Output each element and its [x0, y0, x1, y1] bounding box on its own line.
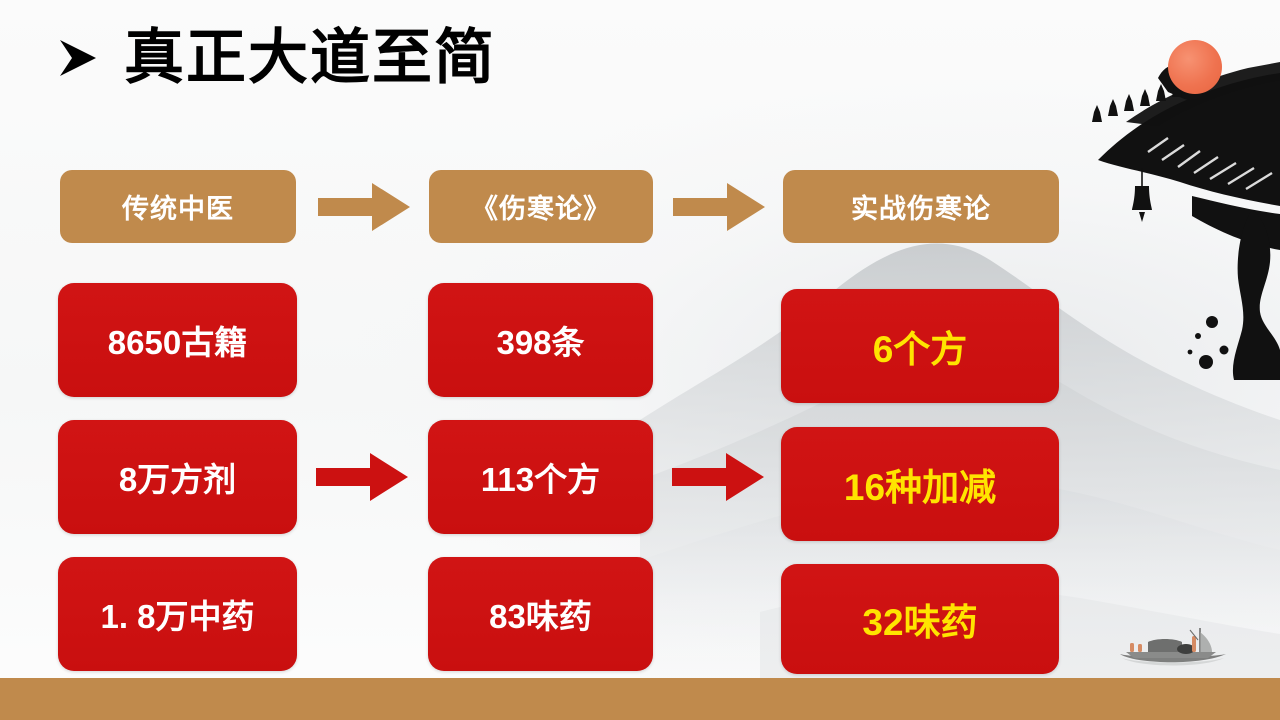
cell-col1-row3[interactable]: 1. 8万中药	[58, 557, 297, 671]
ink-splatter-graphic	[1160, 200, 1280, 380]
cell-col2-row2[interactable]: 113个方	[428, 420, 653, 534]
slide-canvas: 真正大道至简 传统中医 《伤寒论》 实战伤寒论 8650古籍 8万方剂 1. 8…	[0, 0, 1280, 720]
cell-col2-row1[interactable]: 398条	[428, 283, 653, 397]
temple-roof-graphic	[1040, 0, 1280, 300]
header-box-traditional-chinese-medicine[interactable]: 传统中医	[60, 170, 296, 243]
arrow-bullet-icon	[56, 35, 98, 81]
header-box-practical-shanghanlun[interactable]: 实战伤寒论	[783, 170, 1059, 243]
cell-col3-row1[interactable]: 6个方	[781, 289, 1059, 403]
header-box-shanghanlun[interactable]: 《伤寒论》	[429, 170, 653, 243]
cell-col1-row2[interactable]: 8万方剂	[58, 420, 297, 534]
row-arrow-1-icon	[314, 450, 410, 504]
row-arrow-2-icon	[670, 450, 766, 504]
fishing-boat-graphic	[1112, 624, 1232, 672]
header-arrow-2-icon	[671, 180, 767, 234]
cell-col3-row2[interactable]: 16种加减	[781, 427, 1059, 541]
hanging-bell-icon	[1132, 168, 1152, 222]
cell-col2-row3[interactable]: 83味药	[428, 557, 653, 671]
cell-col3-row3[interactable]: 32味药	[781, 564, 1059, 674]
page-title: 真正大道至简	[124, 28, 496, 88]
red-sun-icon	[1168, 40, 1222, 94]
slide-title-row: 真正大道至简	[56, 28, 496, 88]
header-arrow-1-icon	[316, 180, 412, 234]
cell-col1-row1[interactable]: 8650古籍	[58, 283, 297, 397]
footer-bar	[0, 678, 1280, 720]
